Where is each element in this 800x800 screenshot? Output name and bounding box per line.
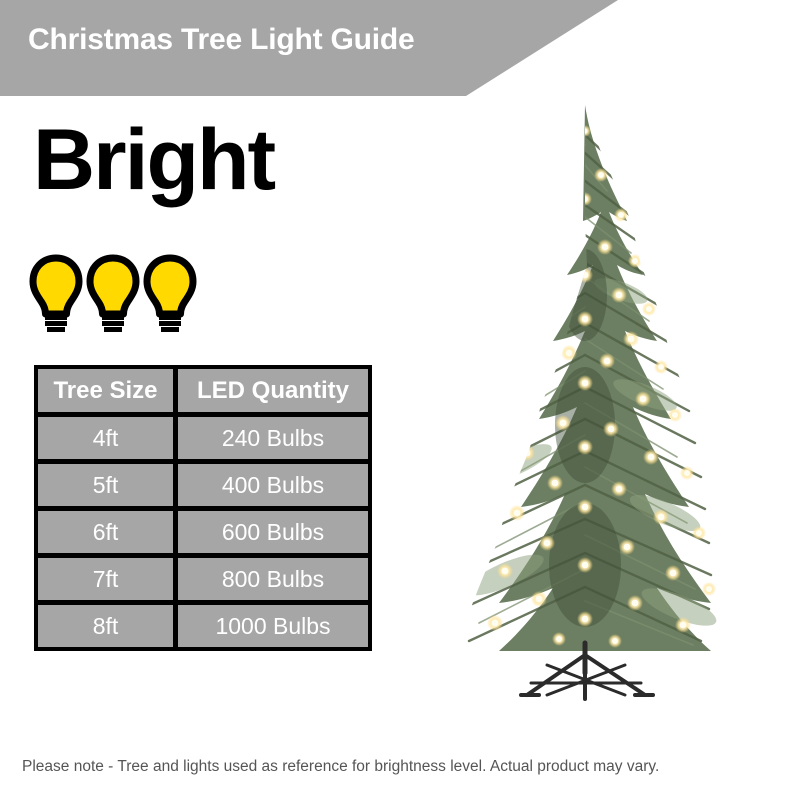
cell-tree-size: 4ft (38, 417, 173, 459)
cell-led-quantity: 1000 Bulbs (178, 605, 368, 647)
cell-led-quantity: 800 Bulbs (178, 558, 368, 600)
table-row: 7ft 800 Bulbs (38, 558, 368, 600)
cell-tree-size: 5ft (38, 464, 173, 506)
brightness-level-label: Bright (33, 117, 274, 203)
cell-tree-size: 6ft (38, 511, 173, 553)
christmas-tree-photo (435, 95, 795, 710)
column-header-led-quantity: LED Quantity (178, 369, 368, 412)
table-row: 4ft 240 Bulbs (38, 417, 368, 459)
light-bulb-icon (142, 252, 198, 336)
bulb-rating-row (28, 252, 198, 336)
cell-tree-size: 7ft (38, 558, 173, 600)
footer-disclaimer: Please note - Tree and lights used as re… (22, 758, 659, 776)
light-bulb-icon (85, 252, 141, 336)
table-header-row: Tree Size LED Quantity (38, 369, 368, 412)
table-row: 5ft 400 Bulbs (38, 464, 368, 506)
cell-led-quantity: 240 Bulbs (178, 417, 368, 459)
tree-stand (521, 643, 653, 699)
column-header-tree-size: Tree Size (38, 369, 173, 412)
cell-tree-size: 8ft (38, 605, 173, 647)
table-row: 6ft 600 Bulbs (38, 511, 368, 553)
cell-led-quantity: 400 Bulbs (178, 464, 368, 506)
page-title: Christmas Tree Light Guide (28, 23, 415, 57)
tree-led-lights (464, 125, 716, 648)
light-bulb-icon (28, 252, 84, 336)
led-quantity-table: Tree Size LED Quantity 4ft 240 Bulbs 5ft… (34, 365, 372, 651)
cell-led-quantity: 600 Bulbs (178, 511, 368, 553)
table-row: 8ft 1000 Bulbs (38, 605, 368, 647)
